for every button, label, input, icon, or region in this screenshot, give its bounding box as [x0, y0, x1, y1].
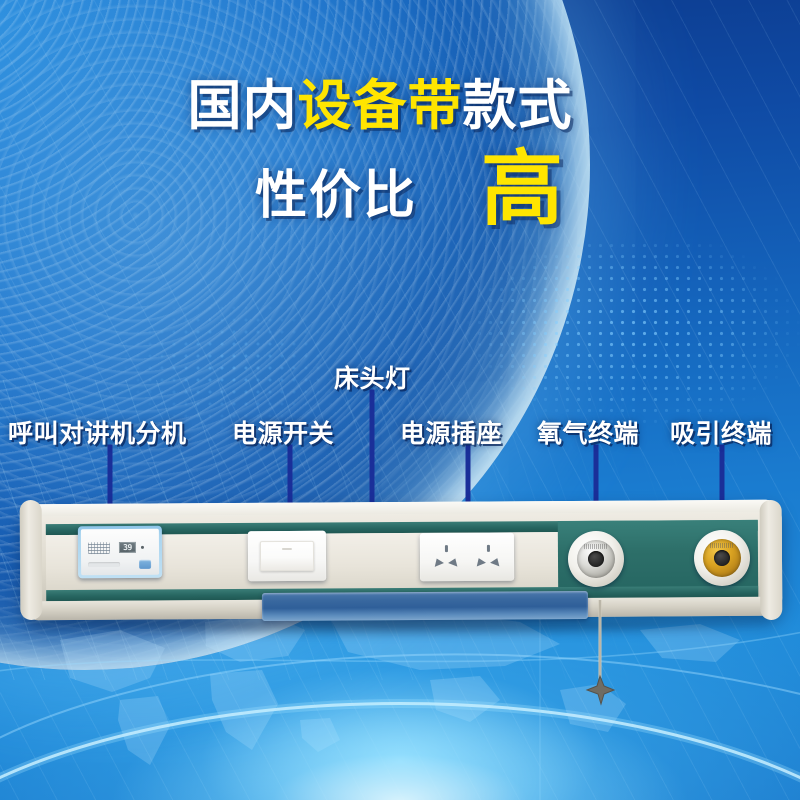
- oxygen-terminal-port-icon: [588, 551, 604, 567]
- socket-outlet-right[interactable]: [474, 543, 502, 571]
- callout-label-suction-terminal: 吸引终端: [670, 414, 772, 450]
- intercom-slot: [88, 562, 120, 567]
- socket-pin-right-icon: [448, 556, 460, 566]
- horizon-glow: [100, 690, 700, 800]
- callout-label-power-socket: 电源插座: [400, 414, 502, 450]
- callout-label-intercom: 呼叫对讲机分机: [8, 414, 187, 450]
- bar-end-cap-left: [20, 500, 43, 620]
- oxygen-terminal-marking: [584, 544, 608, 549]
- power-rocker-switch[interactable]: [260, 541, 314, 571]
- oxygen-terminal-face: [577, 540, 615, 578]
- socket-pin-left-icon: [432, 557, 444, 567]
- socket-outlet-left[interactable]: [432, 543, 460, 571]
- oxygen-gas-terminal[interactable]: [568, 531, 624, 587]
- suction-terminal-marking: [710, 543, 734, 548]
- bar-end-cap-right: [760, 500, 783, 620]
- suction-terminal-face: [703, 539, 741, 577]
- suction-terminal-port-icon: [714, 550, 730, 566]
- intercom-display: 39: [119, 542, 136, 553]
- dual-universal-power-socket[interactable]: [420, 533, 514, 582]
- socket-pin-right-icon: [490, 556, 502, 566]
- promo-banner: 国内设备带款式 性价比 高 呼叫对讲机分机 电: [0, 0, 800, 800]
- status-led-icon: [141, 546, 144, 549]
- intercom-call-button[interactable]: [139, 560, 151, 569]
- bar-top-edge: [22, 500, 782, 517]
- socket-pin-top-icon: [444, 545, 447, 552]
- callout-label-bed-lamp: 床头灯: [334, 359, 411, 395]
- callout-label-oxygen-terminal: 氧气终端: [537, 414, 639, 450]
- halftone-dot-pattern: [430, 240, 800, 440]
- nurse-call-intercom[interactable]: 39: [78, 526, 162, 579]
- switch-indicator-icon: [282, 548, 292, 550]
- callout-label-power-switch: 电源开关: [232, 414, 334, 450]
- power-switch-plate[interactable]: [248, 531, 326, 581]
- socket-pin-left-icon: [474, 556, 486, 566]
- suction-gas-terminal[interactable]: [694, 530, 750, 586]
- bar-equipment-rail: [262, 591, 588, 621]
- socket-pin-top-icon: [486, 545, 489, 552]
- speaker-grille-icon: [88, 542, 110, 554]
- intercom-faceplate: 39: [81, 529, 159, 575]
